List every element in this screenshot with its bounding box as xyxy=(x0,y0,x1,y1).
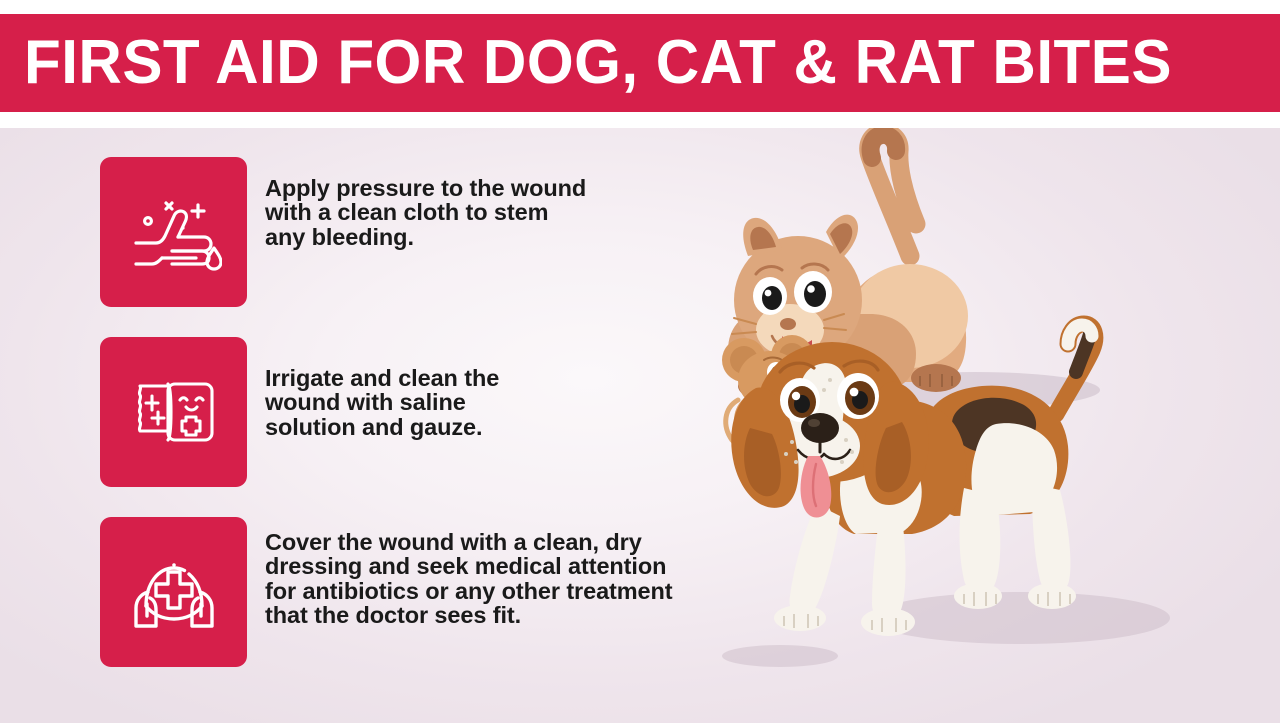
step-3-text: Cover the wound with a clean, dry dressi… xyxy=(265,517,673,628)
hand-bleeding-finger-icon xyxy=(126,191,222,273)
cat-shadow xyxy=(850,372,1100,408)
header-banner: FIRST AID FOR DOG, CAT & RAT BITES xyxy=(0,14,1280,112)
step-2-text: Irrigate and clean the wound with saline… xyxy=(265,337,499,439)
step-2-icon-box xyxy=(100,337,247,487)
page-title: FIRST AID FOR DOG, CAT & RAT BITES xyxy=(24,32,1172,94)
hands-cradling-cross-icon xyxy=(126,548,222,636)
infographic-poster: FIRST AID FOR DOG, CAT & RAT BITES xyxy=(0,0,1280,723)
step-1-icon-box xyxy=(100,157,247,307)
body-panel: Apply pressure to the wound with a clean… xyxy=(0,128,1280,723)
dog-shadow xyxy=(870,592,1170,644)
step-item-1: Apply pressure to the wound with a clean… xyxy=(100,157,586,307)
gauze-bandage-icon xyxy=(128,376,220,448)
step-item-2: Irrigate and clean the wound with saline… xyxy=(100,337,499,487)
animals-illustration xyxy=(720,128,1280,723)
step-item-3: Cover the wound with a clean, dry dressi… xyxy=(100,517,673,667)
step-1-text: Apply pressure to the wound with a clean… xyxy=(265,157,586,249)
step-3-icon-box xyxy=(100,517,247,667)
steps-list: Apply pressure to the wound with a clean… xyxy=(0,128,800,723)
